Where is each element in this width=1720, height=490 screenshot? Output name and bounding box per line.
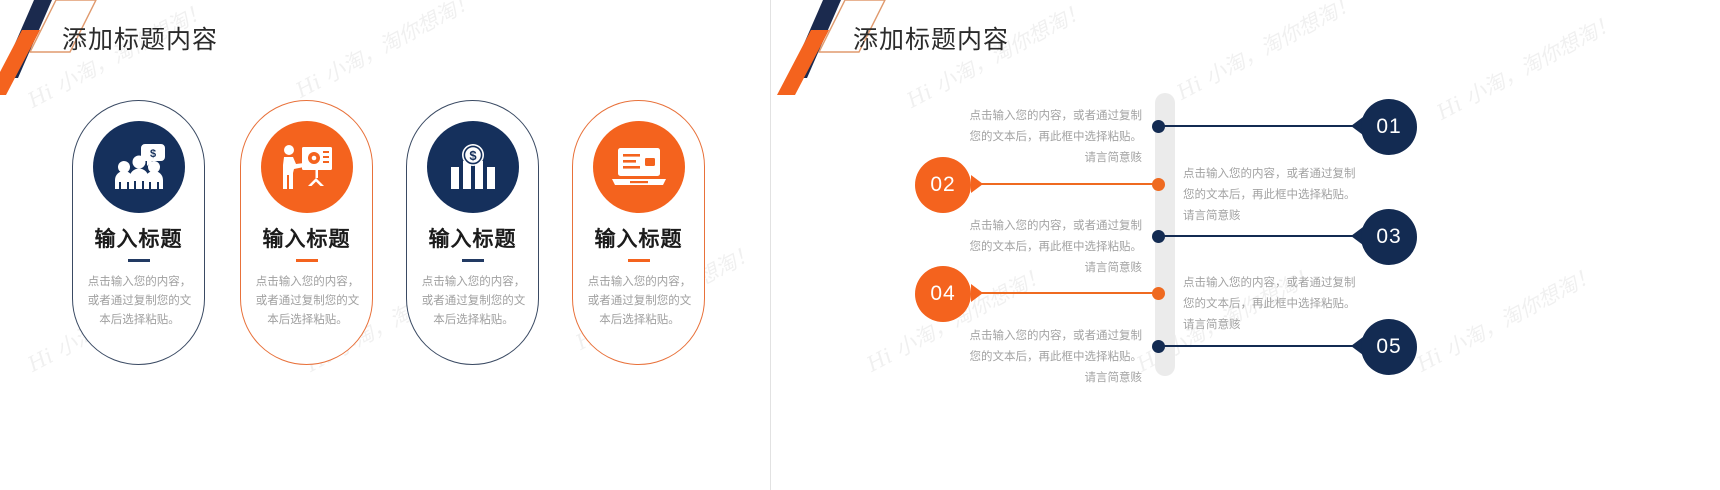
timeline-number-badge[interactable]: 05 [1361,319,1417,375]
slide-right: 添加标题内容 Hi 小淘，淘你想淘！ Hi 小淘，淘你想淘！ Hi 小淘，淘你想… [771,0,1720,490]
watermark: Hi 小淘，淘你想淘！ [290,0,480,104]
card-divider [296,259,318,262]
timeline-connector [1161,235,1361,237]
card-title: 输入标题 [241,223,372,253]
timeline-item-text: 点击输入您的内容，或者通过复制您的文本后，再此框中选择粘贴。请言简意赅 [1183,273,1361,336]
timeline-connector [1161,345,1361,347]
feature-card[interactable]: $ 输入标题 点击输入您的内容，或者通过复制您的文本后选择粘贴。 [406,100,539,365]
feature-card[interactable]: 输入标题 点击输入您的内容，或者通过复制您的文本后选择粘贴。 [240,100,373,365]
timeline-number-badge[interactable]: 02 [915,157,971,213]
timeline-connector [981,183,1156,185]
timeline-pointer [971,284,983,302]
timeline-connector [1161,125,1361,127]
timeline-item-text: 点击输入您的内容，或者通过复制您的文本后，再此框中选择粘贴。请言简意赅 [1183,164,1361,227]
svg-text:$: $ [149,148,155,160]
slide-left: 添加标题内容 Hi 小淘，淘你想淘！ Hi 小淘，淘你想淘！ Hi 小淘，淘你想… [0,0,770,490]
watermark: Hi 小淘，淘你想淘！ [22,0,212,114]
timeline-number-badge[interactable]: 01 [1361,99,1417,155]
card-body-text: 点击输入您的内容，或者通过复制您的文本后选择粘贴。 [85,273,194,330]
feature-card[interactable]: $ 输入标题 点击输入您的内容，或者通过复制您的文本后选择粘贴。 [72,100,205,365]
dollar-bar-chart-icon: $ [427,121,519,213]
timeline-item-text: 点击输入您的内容，或者通过复制您的文本后，再此框中选择粘贴。请言简意赅 [964,326,1142,389]
presentation-canvas: 添加标题内容 Hi 小淘，淘你想淘！ Hi 小淘，淘你想淘！ Hi 小淘，淘你想… [0,0,1720,490]
timeline-connector [981,292,1156,294]
laptop-icon [593,121,685,213]
card-title: 输入标题 [573,223,704,253]
presenter-board-icon [261,121,353,213]
card-divider [128,259,150,262]
timeline-item-text: 点击输入您的内容，或者通过复制您的文本后，再此框中选择粘贴。请言简意赅 [964,106,1142,169]
page-title: 添加标题内容 [62,20,218,56]
card-title: 输入标题 [73,223,204,253]
timeline-item-text: 点击输入您的内容，或者通过复制您的文本后，再此框中选择粘贴。请言简意赅 [964,216,1142,279]
card-body-text: 点击输入您的内容，或者通过复制您的文本后选择粘贴。 [253,273,362,330]
people-money-icon: $ [93,121,185,213]
feature-card[interactable]: 输入标题 点击输入您的内容，或者通过复制您的文本后选择粘贴。 [572,100,705,365]
card-divider [462,259,484,262]
svg-text:$: $ [469,148,477,163]
card-divider [628,259,650,262]
timeline: 01 点击输入您的内容，或者通过复制您的文本后，再此框中选择粘贴。请言简意赅 0… [771,0,1720,490]
feature-card-list: $ 输入标题 点击输入您的内容，或者通过复制您的文本后选择粘贴。 [72,100,732,375]
card-body-text: 点击输入您的内容，或者通过复制您的文本后选择粘贴。 [419,273,528,330]
timeline-pointer [971,175,983,193]
timeline-number-badge[interactable]: 03 [1361,209,1417,265]
timeline-number-badge[interactable]: 04 [915,266,971,322]
card-title: 输入标题 [407,223,538,253]
card-body-text: 点击输入您的内容，或者通过复制您的文本后选择粘贴。 [585,273,694,330]
